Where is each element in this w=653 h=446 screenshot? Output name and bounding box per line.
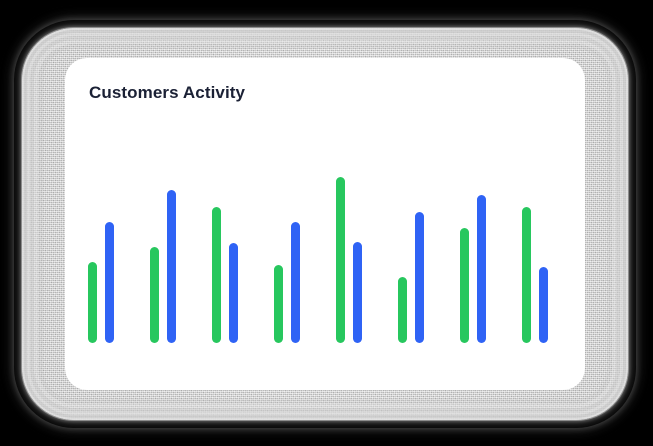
customers-activity-bar-chart (65, 58, 585, 390)
bar-green-8[interactable] (522, 207, 531, 343)
bar-blue-2[interactable] (167, 190, 176, 343)
bar-blue-5[interactable] (353, 242, 362, 343)
bar-blue-8[interactable] (539, 267, 548, 343)
bar-blue-7[interactable] (477, 195, 486, 343)
bar-green-2[interactable] (150, 247, 159, 343)
bar-group[interactable] (212, 177, 238, 343)
bar-group[interactable] (398, 177, 424, 343)
bar-green-5[interactable] (336, 177, 345, 343)
bar-green-1[interactable] (88, 262, 97, 343)
bar-blue-1[interactable] (105, 222, 114, 343)
bar-green-6[interactable] (398, 277, 407, 343)
bar-group[interactable] (522, 177, 548, 343)
bar-green-3[interactable] (212, 207, 221, 343)
bar-green-4[interactable] (274, 265, 283, 343)
bar-group[interactable] (88, 177, 114, 343)
bar-green-7[interactable] (460, 228, 469, 343)
bar-group[interactable] (460, 177, 486, 343)
bar-group[interactable] (274, 177, 300, 343)
bar-blue-6[interactable] (415, 212, 424, 343)
bar-blue-4[interactable] (291, 222, 300, 343)
bar-group[interactable] (336, 177, 362, 343)
customers-activity-card: Customers Activity (65, 58, 585, 390)
bar-blue-3[interactable] (229, 243, 238, 343)
bar-group[interactable] (150, 177, 176, 343)
